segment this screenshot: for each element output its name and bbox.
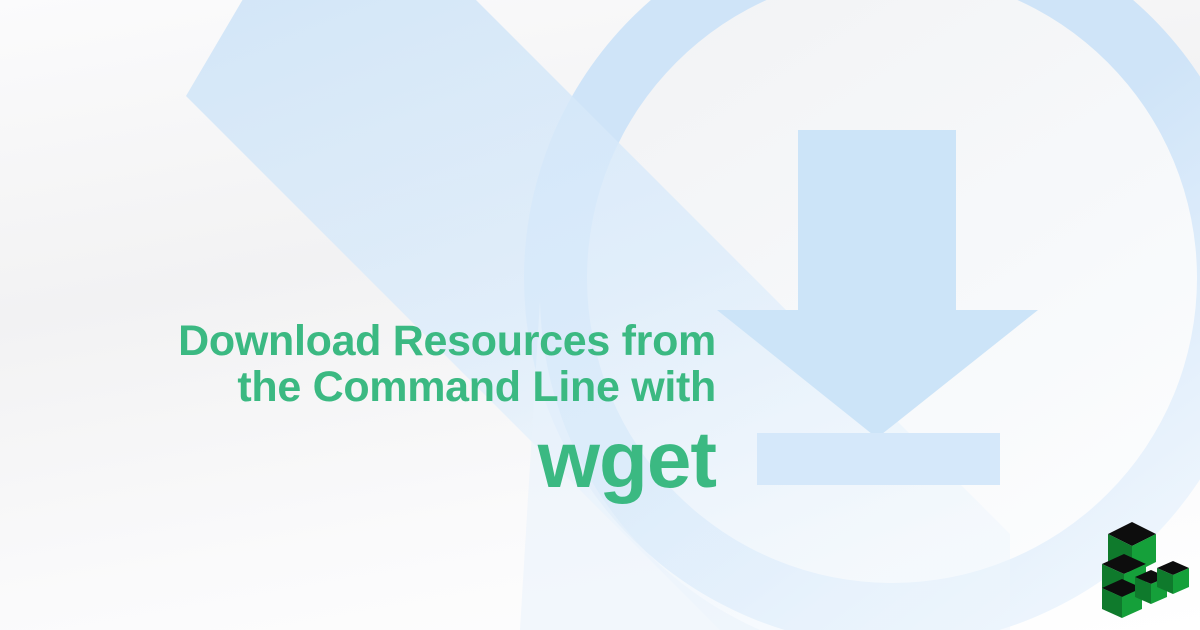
background-decoration xyxy=(0,0,1200,630)
headline-line-2: the Command Line with xyxy=(0,364,716,410)
decor-diagonal-band xyxy=(186,0,1010,630)
isometric-cubes-logo xyxy=(1096,512,1192,622)
headline-emphasis-wget: wget xyxy=(0,416,716,504)
poster-canvas: Download Resources from the Command Line… xyxy=(0,0,1200,630)
download-arrow-icon xyxy=(717,130,1038,485)
logo-cube-small-right xyxy=(1157,561,1189,594)
headline: Download Resources from the Command Line… xyxy=(0,318,716,504)
headline-line-1: Download Resources from xyxy=(0,318,716,364)
